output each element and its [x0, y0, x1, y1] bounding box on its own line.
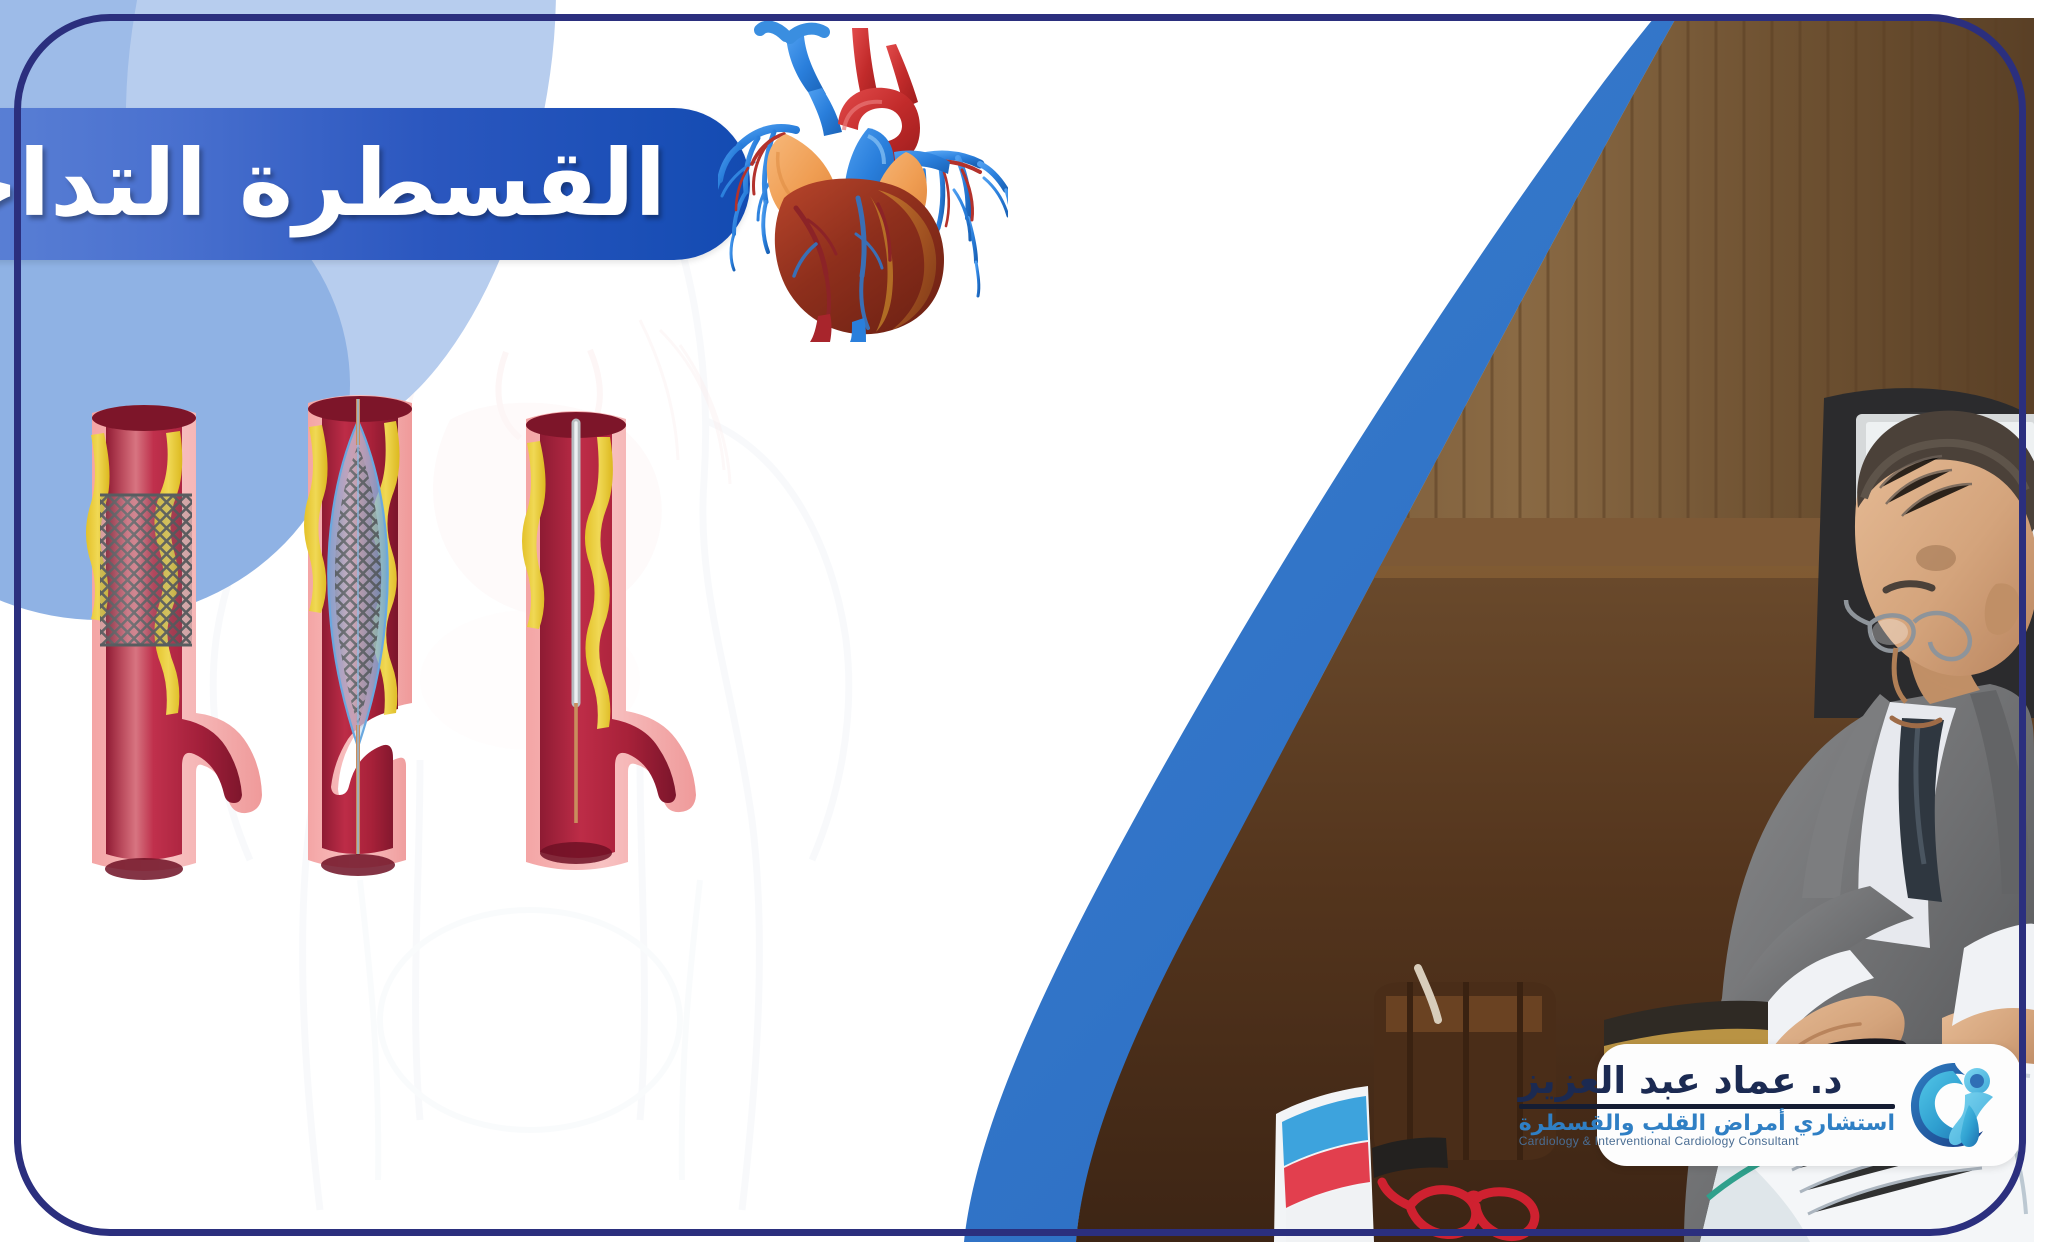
title-banner: القسطرة التداخلية	[0, 108, 750, 260]
logo-doctor-name: د. عماد عبد العزيز	[1519, 1062, 1843, 1100]
heart-person-logo-icon	[1903, 1053, 2007, 1157]
stent-stage-3	[522, 411, 696, 870]
stent-stage-1	[86, 405, 262, 880]
anatomical-heart-illustration	[718, 12, 1008, 342]
poster-canvas: القسطرة التداخلية	[0, 0, 2052, 1260]
stent-stage-2	[304, 395, 412, 876]
logo-subtitle-arabic: استشاري أمراض القلب والقسطرة	[1519, 1112, 1895, 1135]
page-title: القسطرة التداخلية	[0, 138, 750, 230]
clinic-logo-badge: د. عماد عبد العزيز استشاري أمراض القلب و…	[1597, 1044, 2021, 1166]
logo-subtitle-english: Cardiology & Interventional Cardiology C…	[1519, 1135, 1799, 1148]
angioplasty-stent-stages	[30, 385, 730, 915]
logo-divider	[1519, 1104, 1895, 1109]
